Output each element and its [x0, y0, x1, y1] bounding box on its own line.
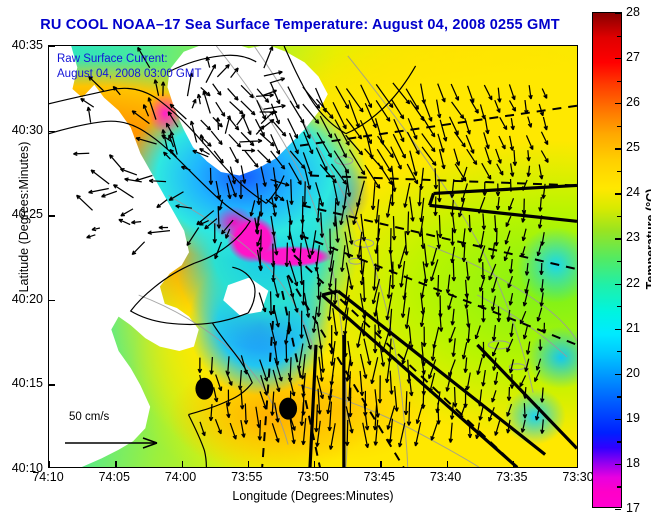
colorbar-minor-tick [617, 81, 621, 82]
x-tick-label: 73:55 [231, 470, 262, 484]
colorbar-tick [615, 103, 621, 104]
x-tick-label: 73:45 [364, 470, 395, 484]
colorbar-tick [615, 13, 621, 14]
x-tick-label: 74:05 [99, 470, 130, 484]
sst-map-plot: Raw Surface Current: August 04, 2008 03:… [48, 45, 578, 468]
y-tick [49, 215, 55, 216]
x-tick [182, 461, 183, 467]
colorbar-tick [615, 464, 621, 465]
colorbar-label: Temperature (°C) [644, 159, 651, 319]
scale-legend: 50 cm/s [57, 411, 179, 455]
current-annotation: Raw Surface Current: August 04, 2008 03:… [57, 52, 201, 82]
x-tick [380, 461, 381, 467]
y-axis-label: Latitude (Degrees:Minutes) [17, 107, 31, 327]
colorbar-tick [615, 148, 621, 149]
colorbar-tick-label: 22 [626, 276, 640, 290]
x-tick-label: 73:30 [562, 470, 593, 484]
y-tick-label: 40:10 [0, 461, 43, 475]
colorbar-tick [615, 329, 621, 330]
annotation-line-1: Raw Surface Current: [57, 52, 201, 67]
annotation-line-2: August 04, 2008 03:00 GMT [57, 67, 201, 82]
colorbar-tick-label: 18 [626, 456, 640, 470]
y-tick-label: 40:15 [0, 376, 43, 390]
x-tick-label: 74:00 [165, 470, 196, 484]
x-tick [49, 461, 50, 467]
colorbar [592, 12, 622, 508]
y-tick [49, 300, 55, 301]
colorbar-tick [615, 58, 621, 59]
colorbar-tick-label: 27 [626, 50, 640, 64]
colorbar-tick-label: 20 [626, 366, 640, 380]
colorbar-tick [615, 509, 621, 510]
scale-legend-label: 50 cm/s [69, 411, 109, 423]
x-tick-label: 73:50 [297, 470, 328, 484]
colorbar-tick-label: 25 [626, 140, 640, 154]
colorbar-minor-tick [617, 306, 621, 307]
x-tick-label: 73:40 [430, 470, 461, 484]
colorbar-minor-tick [617, 261, 621, 262]
x-tick [115, 461, 116, 467]
colorbar-tick-label: 19 [626, 411, 640, 425]
colorbar-minor-tick [617, 171, 621, 172]
colorbar-tick [615, 419, 621, 420]
colorbar-minor-tick [617, 216, 621, 217]
colorbar-minor-tick [617, 36, 621, 37]
x-tick-label: 73:35 [496, 470, 527, 484]
colorbar-tick-label: 17 [626, 501, 640, 515]
colorbar-minor-tick [617, 126, 621, 127]
colorbar-tick [615, 374, 621, 375]
colorbar-minor-tick [617, 486, 621, 487]
colorbar-tick-label: 24 [626, 185, 640, 199]
x-tick [513, 461, 514, 467]
colorbar-tick-label: 28 [626, 5, 640, 19]
colorbar-tick [615, 193, 621, 194]
x-axis-label: Longitude (Degrees:Minutes) [48, 489, 578, 503]
y-tick-label: 40:35 [0, 38, 43, 52]
colorbar-tick-label: 26 [626, 95, 640, 109]
x-tick [314, 461, 315, 467]
colorbar-tick-label: 21 [626, 321, 640, 335]
colorbar-minor-tick [617, 441, 621, 442]
plot-inner: Raw Surface Current: August 04, 2008 03:… [49, 46, 577, 467]
x-tick [248, 461, 249, 467]
y-tick [49, 46, 55, 47]
colorbar-tick-label: 23 [626, 230, 640, 244]
x-tick [447, 461, 448, 467]
colorbar-minor-tick [617, 396, 621, 397]
page-title: RU COOL NOAA–17 Sea Surface Temperature:… [0, 17, 600, 33]
y-tick [49, 131, 55, 132]
colorbar-tick [615, 284, 621, 285]
scale-arrow-icon [63, 435, 175, 451]
colorbar-minor-tick [617, 351, 621, 352]
colorbar-tick [615, 238, 621, 239]
y-tick [49, 384, 55, 385]
